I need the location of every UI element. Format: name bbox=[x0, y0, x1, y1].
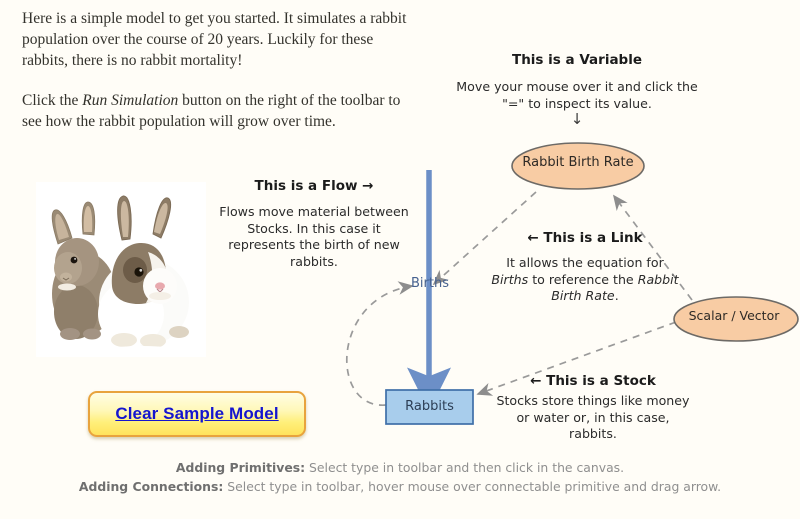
down-arrow-icon: ↓ bbox=[452, 113, 702, 126]
intro-text: Here is a simple model to get you starte… bbox=[22, 8, 412, 151]
intro-paragraph-1-text: Here is a simple model to get you starte… bbox=[22, 10, 406, 69]
variable-scalar-vector-label[interactable]: Scalar / Vector bbox=[672, 308, 796, 323]
link-rabbits-to-births bbox=[347, 286, 412, 405]
annotation-flow: This is a Flow → Flows move material bet… bbox=[216, 178, 412, 270]
annotation-link-body: It allows the equation for Births to ref… bbox=[486, 255, 684, 305]
flow-births-label[interactable]: Births bbox=[388, 276, 472, 291]
footer-label-primitives: Adding Primitives: bbox=[176, 460, 305, 475]
two-rabbits-photo bbox=[36, 182, 206, 357]
variable-rabbit-birth-rate-label[interactable]: Rabbit Birth Rate bbox=[508, 155, 648, 170]
intro-paragraph-1: Here is a simple model to get you starte… bbox=[22, 8, 412, 71]
annotation-variable: This is a Variable Move your mouse over … bbox=[452, 52, 702, 126]
intro-paragraph-2-lead: Click the bbox=[22, 92, 82, 109]
annotation-stock-title: ← This is a Stock bbox=[494, 373, 692, 389]
annotation-stock-body: Stocks store things like money or water … bbox=[494, 393, 692, 443]
annotation-flow-title: This is a Flow → bbox=[216, 178, 412, 194]
annotation-variable-title: This is a Variable bbox=[452, 52, 702, 68]
footer-line-connections: Adding Connections: Select type in toolb… bbox=[0, 477, 800, 496]
stock-rabbits-label[interactable]: Rabbits bbox=[386, 399, 473, 414]
footer-text-primitives: Select type in toolbar and then click in… bbox=[305, 460, 624, 475]
annotation-link-body-a: It allows the equation for bbox=[506, 255, 664, 270]
model-canvas[interactable]: Here is a simple model to get you starte… bbox=[0, 0, 800, 519]
annotation-stock: ← This is a Stock Stocks store things li… bbox=[494, 373, 692, 443]
annotation-link-body-b: to reference the bbox=[528, 272, 637, 287]
footer-label-connections: Adding Connections: bbox=[79, 479, 223, 494]
clear-sample-model-label: Clear Sample Model bbox=[115, 404, 278, 424]
annotation-flow-body: Flows move material between Stocks. In t… bbox=[216, 204, 412, 270]
footer-hints: Adding Primitives: Select type in toolba… bbox=[0, 458, 800, 496]
footer-line-primitives: Adding Primitives: Select type in toolba… bbox=[0, 458, 800, 477]
annotation-link-em-births: Births bbox=[491, 272, 528, 287]
annotation-link: ← This is a Link It allows the equation … bbox=[486, 230, 684, 305]
run-simulation-emphasis: Run Simulation bbox=[82, 92, 178, 109]
clear-sample-model-button[interactable]: Clear Sample Model bbox=[88, 391, 306, 437]
annotation-variable-body: Move your mouse over it and click the "=… bbox=[452, 79, 702, 112]
annotation-link-body-c: . bbox=[615, 288, 619, 303]
intro-paragraph-2: Click the Run Simulation button on the r… bbox=[22, 90, 412, 132]
footer-text-connections: Select type in toolbar, hover mouse over… bbox=[223, 479, 721, 494]
annotation-link-title: ← This is a Link bbox=[486, 230, 684, 246]
